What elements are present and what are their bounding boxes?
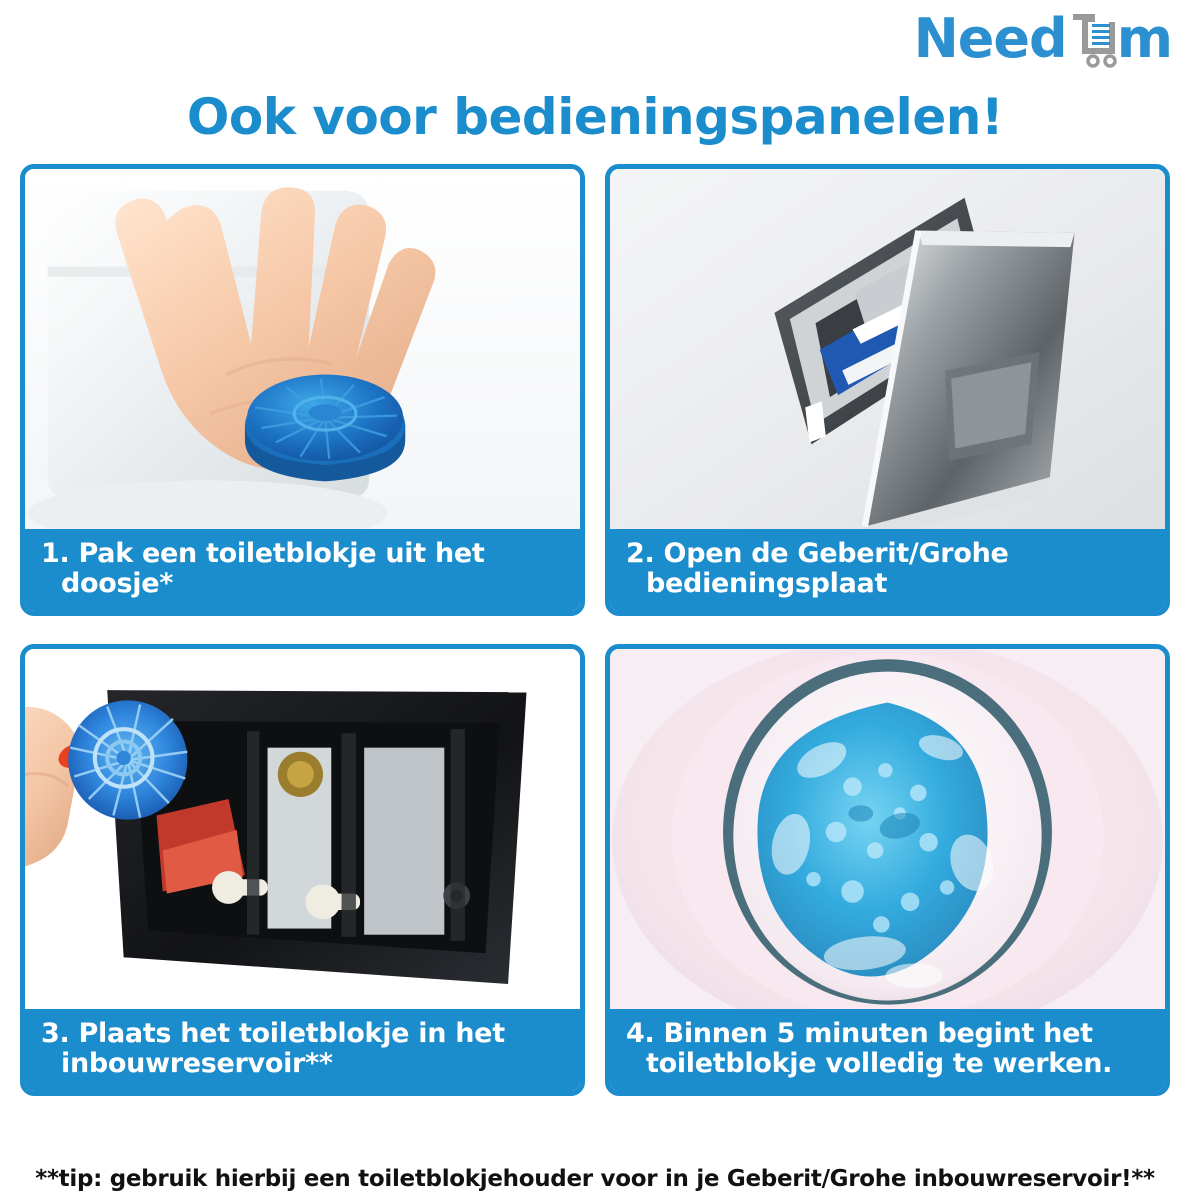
step-3-caption: 3. Plaats het toiletblokje in het inbouw…: [25, 1009, 580, 1091]
step-4-caption: 4. Binnen 5 minuten begint het toiletblo…: [610, 1009, 1165, 1091]
step-2-caption: 2. Open de Geberit/Grohe bedieningsplaat: [610, 529, 1165, 611]
shopping-cart-icon: [1065, 10, 1119, 68]
step-1-photo: [25, 169, 580, 529]
steps-grid: 1. Pak een toiletblokje uit het doosje*: [20, 164, 1170, 1096]
step-2-caption-text: 2. Open de Geberit/Grohe bedieningsplaat: [626, 539, 1153, 599]
step-card-4: 4. Binnen 5 minuten begint het toiletblo…: [605, 644, 1170, 1096]
step-3-photo: [25, 649, 580, 1009]
page-title: Ook voor bedieningspanelen!: [0, 88, 1190, 146]
footer-tip: **tip: gebruik hierbij een toiletblokjeh…: [0, 1166, 1190, 1192]
brand-logo[interactable]: Need m: [914, 8, 1172, 70]
step-1-caption-text: 1. Pak een toiletblokje uit het doosje*: [41, 539, 568, 599]
step-1-caption: 1. Pak een toiletblokje uit het doosje*: [25, 529, 580, 611]
step-3-caption-text: 3. Plaats het toiletblokje in het inbouw…: [41, 1019, 568, 1079]
step-card-2: 2. Open de Geberit/Grohe bedieningsplaat: [605, 164, 1170, 616]
logo-text-right: m: [1117, 12, 1172, 66]
step-card-1: 1. Pak een toiletblokje uit het doosje*: [20, 164, 585, 616]
step-2-photo: [610, 169, 1165, 529]
page-header: Need m: [0, 0, 1190, 78]
step-4-photo: [610, 649, 1165, 1009]
step-4-caption-text: 4. Binnen 5 minuten begint het toiletblo…: [626, 1019, 1153, 1079]
step-card-3: 3. Plaats het toiletblokje in het inbouw…: [20, 644, 585, 1096]
logo-text-left: Need: [914, 12, 1067, 66]
